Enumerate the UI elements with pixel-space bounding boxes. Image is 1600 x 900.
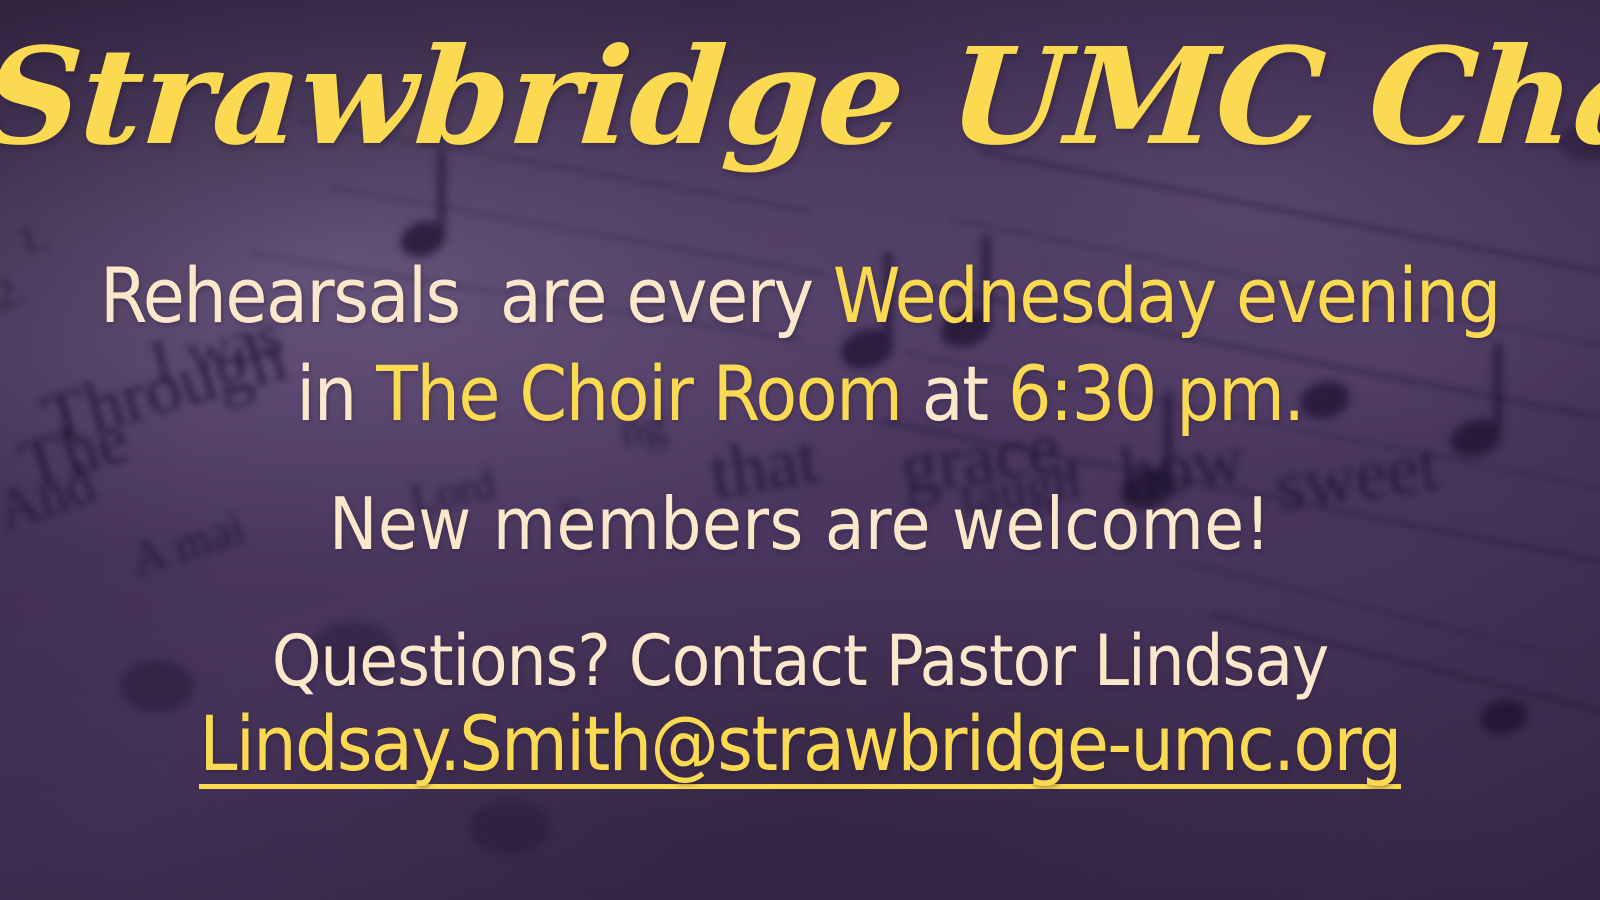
poster-content: Strawbridge UMC Chancel Choir Rehearsals…: [0, 0, 1600, 900]
at-word: at: [922, 349, 988, 438]
contact-email-link[interactable]: Lindsay.Smith@strawbridge-umc.org: [199, 706, 1400, 789]
rehearsal-day-line: Rehearsals are every Wednesday evening: [0, 258, 1600, 334]
are-every-words: are every: [500, 251, 813, 340]
contact-prompt-line: Questions? Contact Pastor Lindsay: [0, 626, 1600, 696]
rehearsals-word: Rehearsals: [100, 251, 460, 340]
choir-room-highlight: The Choir Room: [376, 349, 901, 438]
in-word: in: [296, 349, 356, 438]
contact-email-line: Lindsay.Smith@strawbridge-umc.org: [0, 706, 1600, 789]
rehearsal-day-highlight: Wednesday evening: [833, 251, 1500, 340]
new-members-welcome-line: New members are welcome!: [0, 488, 1600, 560]
rehearsal-time-highlight: 6:30 pm.: [1008, 349, 1304, 438]
poster-body: Rehearsals are every Wednesday evening i…: [0, 258, 1600, 789]
choir-announcement-poster: 1. 2. I was Through The And that grace, …: [0, 0, 1600, 900]
page-title: Strawbridge UMC Chancel Choir: [0, 26, 1600, 170]
rehearsal-place-time-line: in The Choir Room at 6:30 pm.: [0, 356, 1600, 432]
